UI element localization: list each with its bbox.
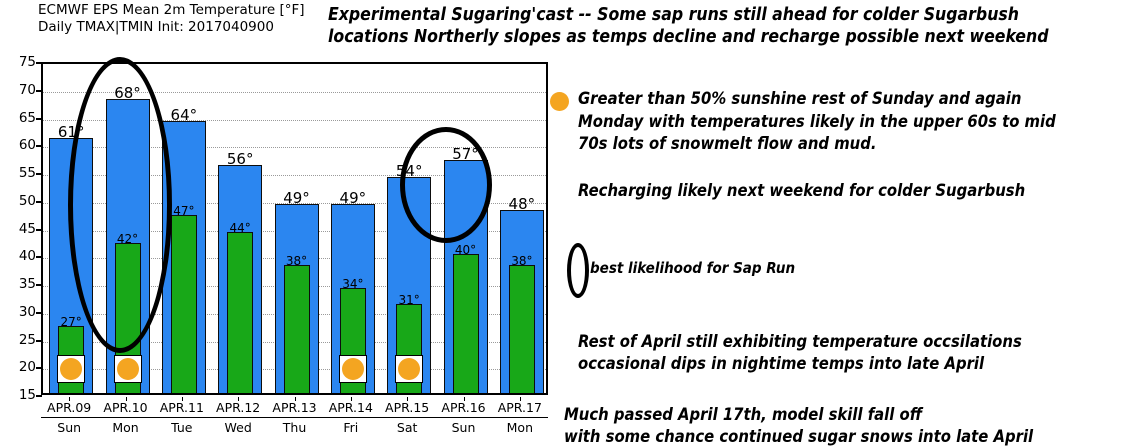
tmin-value-label: 40°: [455, 243, 476, 257]
x-axis-day-label: Sun: [57, 420, 81, 435]
y-axis-tick-mark: [36, 173, 42, 175]
chart-panel: ECMWF EPS Mean 2m Temperature [°F] Daily…: [0, 0, 556, 448]
sunshine-marker: [114, 355, 142, 383]
x-axis-day-label: Mon: [112, 420, 138, 435]
tmax-value-label: 49°: [283, 189, 310, 207]
tmin-value-label: 47°: [173, 204, 194, 218]
y-axis-tick-label: 25: [2, 332, 36, 348]
chart-title: ECMWF EPS Mean 2m Temperature [°F] Daily…: [38, 2, 305, 36]
tmax-value-label: 56°: [227, 150, 254, 168]
tmin-value-label: 38°: [286, 254, 307, 268]
tmin-bar[interactable]: [171, 215, 197, 393]
y-axis-tick-mark: [36, 367, 42, 369]
tmin-value-label: 27°: [61, 315, 82, 329]
x-axis-date-label: APR.09: [47, 400, 91, 415]
x-axis-day-label: Fri: [343, 420, 358, 435]
y-axis-tick-label: 40: [2, 248, 36, 264]
sun-icon: [117, 358, 139, 380]
y-axis-tick-mark: [36, 284, 42, 286]
x-axis-date-label: APR.15: [385, 400, 429, 415]
y-axis-tick-mark: [36, 145, 42, 147]
tmax-value-label: 48°: [509, 195, 536, 213]
bar-group[interactable]: [49, 60, 93, 393]
headline-text: Experimental Sugaring'cast -- Some sap r…: [328, 4, 1140, 48]
sunshine-marker: [395, 355, 423, 383]
y-axis-tick-label: 15: [2, 387, 36, 403]
oscillation-note: Rest of April still exhibiting temperatu…: [578, 331, 1022, 375]
tmin-bar[interactable]: [509, 265, 535, 393]
bar-group[interactable]: [331, 60, 375, 393]
x-axis-days: SunMonTueWedThuFriSatSunMon: [41, 418, 548, 440]
x-axis-day-label: Tue: [171, 420, 192, 435]
x-axis-day-label: Sun: [452, 420, 476, 435]
tmax-value-label: 61°: [58, 123, 85, 141]
tmin-value-label: 38°: [511, 254, 532, 268]
y-axis-tick-label: 55: [2, 165, 36, 181]
x-axis-date-label: APR.11: [160, 400, 204, 415]
y-axis-tick-mark: [36, 201, 42, 203]
x-axis-date-label: APR.16: [441, 400, 485, 415]
tmin-value-label: 34°: [342, 277, 363, 291]
tmin-value-label: 44°: [230, 221, 251, 235]
recharge-note: Recharging likely next weekend for colde…: [578, 180, 1025, 202]
sugaring-forecast-chart: ECMWF EPS Mean 2m Temperature [°F] Daily…: [0, 0, 1140, 448]
y-axis-tick-label: 30: [2, 304, 36, 320]
model-skill-note: Much passed April 17th, model skill fall…: [564, 404, 1033, 448]
x-axis-day-label: Thu: [283, 420, 306, 435]
bar-group[interactable]: [387, 60, 431, 393]
tmin-bar[interactable]: [453, 254, 479, 393]
y-axis-tick-label: 20: [2, 359, 36, 375]
tmax-value-label: 57°: [452, 145, 479, 163]
annotation-panel: Experimental Sugaring'cast -- Some sap r…: [556, 0, 1140, 448]
x-axis-date-label: APR.14: [329, 400, 373, 415]
tmax-value-label: 68°: [114, 84, 141, 102]
y-axis-tick-mark: [36, 229, 42, 231]
x-axis-date-label: APR.17: [498, 400, 542, 415]
sun-icon: [342, 358, 364, 380]
bar-group[interactable]: [106, 60, 150, 393]
y-axis-tick-label: 50: [2, 193, 36, 209]
y-axis-tick-mark: [36, 90, 42, 92]
y-axis-tick-label: 70: [2, 82, 36, 98]
y-axis-tick-label: 60: [2, 137, 36, 153]
sap-run-legend-label: best likelihood for Sap Run: [590, 258, 795, 278]
y-axis-tick-label: 35: [2, 276, 36, 292]
tmax-value-label: 49°: [340, 189, 367, 207]
y-axis-tick-label: 65: [2, 110, 36, 126]
y-axis-tick-mark: [36, 312, 42, 314]
y-axis-tick-mark: [36, 62, 42, 64]
tmin-value-label: 31°: [399, 293, 420, 307]
y-axis-tick-mark: [36, 340, 42, 342]
sun-icon: [60, 358, 82, 380]
x-axis-day-label: Sat: [397, 420, 418, 435]
tmin-value-label: 42°: [117, 232, 138, 246]
x-axis-date-label: APR.13: [272, 400, 316, 415]
tmin-bar[interactable]: [284, 265, 310, 393]
sunshine-note: Greater than 50% sunshine rest of Sunday…: [578, 88, 1056, 156]
bar-group[interactable]: [500, 60, 544, 393]
sun-icon: [550, 92, 569, 111]
sun-icon: [398, 358, 420, 380]
y-axis-tick-label: 75: [2, 54, 36, 70]
x-axis-day-label: Wed: [225, 420, 252, 435]
tmax-value-label: 54°: [396, 162, 423, 180]
x-axis-date-label: APR.10: [103, 400, 147, 415]
sap-run-legend-ellipse-icon: [567, 243, 589, 298]
sunshine-marker: [339, 355, 367, 383]
y-axis-tick-label: 45: [2, 221, 36, 237]
tmax-value-label: 64°: [171, 106, 198, 124]
bar-group[interactable]: [275, 60, 319, 393]
bar-group[interactable]: [444, 60, 488, 393]
tmin-bar[interactable]: [227, 232, 253, 393]
x-axis-day-label: Mon: [507, 420, 533, 435]
x-axis-date-label: APR.12: [216, 400, 260, 415]
y-axis-tick-mark: [36, 118, 42, 120]
y-axis-tick-mark: [36, 256, 42, 258]
x-axis-dates: APR.09APR.10APR.11APR.12APR.13APR.14APR.…: [41, 397, 548, 418]
sunshine-marker: [57, 355, 85, 383]
plot-area: 61°27°68°42°64°47°56°44°49°38°49°34°54°3…: [41, 62, 548, 395]
